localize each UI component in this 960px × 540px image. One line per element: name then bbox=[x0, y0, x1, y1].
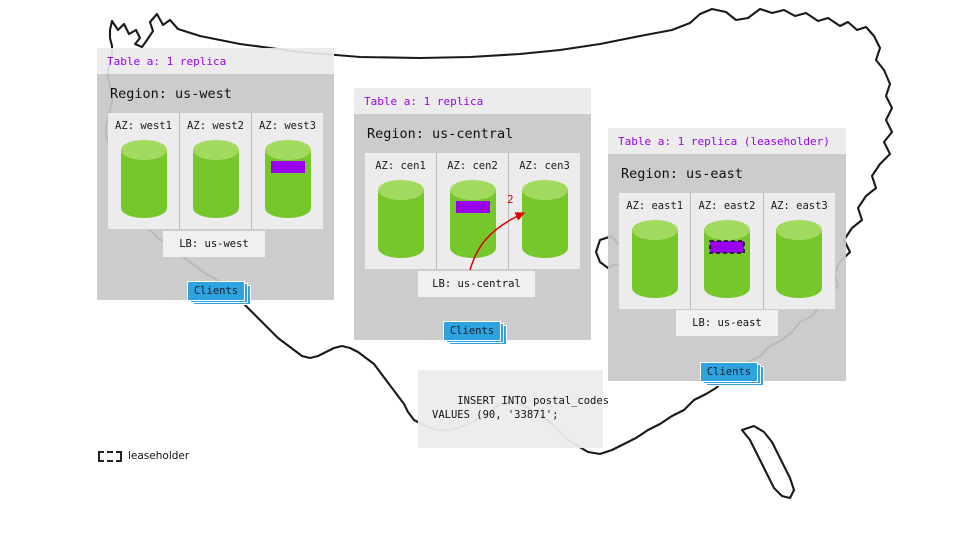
dashed-rect-icon bbox=[98, 451, 122, 462]
clients-stack-front[interactable]: Clients bbox=[443, 321, 501, 341]
database-cylinder-icon bbox=[190, 139, 242, 219]
replica-cylinder-east2 bbox=[697, 219, 756, 299]
region-panel-us-east: Table a: 1 replica (leaseholder) Region:… bbox=[608, 128, 846, 381]
az-cell-east3[interactable]: AZ: east3 bbox=[764, 193, 835, 309]
region-panel-us-central: Table a: 1 replica Region: us-central AZ… bbox=[354, 88, 591, 340]
az-cell-west1[interactable]: AZ: west1 bbox=[108, 113, 180, 229]
database-cylinder-icon bbox=[519, 179, 571, 259]
replica-cylinder-west3 bbox=[258, 139, 317, 219]
lb-label: LB: us-west bbox=[179, 238, 249, 250]
sql-text: INSERT INTO postal_codes VALUES (90, '33… bbox=[432, 395, 609, 421]
sql-statement-box: INSERT INTO postal_codes VALUES (90, '33… bbox=[418, 370, 603, 448]
load-balancer-us-west[interactable]: LB: us-west bbox=[163, 231, 265, 257]
az-row-us-west: AZ: west1 AZ: west2 bbox=[108, 113, 323, 229]
legend-label: leaseholder bbox=[128, 450, 189, 462]
replica-cylinder-east1 bbox=[625, 219, 684, 299]
database-cylinder-icon bbox=[118, 139, 170, 219]
database-cylinder-icon bbox=[773, 219, 825, 299]
clients-label: Clients bbox=[450, 325, 494, 337]
region-panel-us-west: Table a: 1 replica Region: us-west AZ: w… bbox=[97, 48, 334, 300]
load-balancer-us-east[interactable]: LB: us-east bbox=[676, 310, 778, 336]
az-label: AZ: cen3 bbox=[515, 160, 574, 172]
region-header-us-east: Table a: 1 replica (leaseholder) bbox=[608, 128, 846, 154]
az-cell-cen3[interactable]: AZ: cen3 bbox=[509, 153, 580, 269]
clients-button-us-west[interactable]: Clients bbox=[187, 281, 249, 305]
az-label: AZ: east2 bbox=[697, 200, 756, 212]
clients-stack-front[interactable]: Clients bbox=[700, 362, 758, 382]
az-cell-cen2[interactable]: AZ: cen2 bbox=[437, 153, 509, 269]
clients-stack-front[interactable]: Clients bbox=[187, 281, 245, 301]
lb-label: LB: us-east bbox=[692, 317, 762, 329]
region-body-us-east: Region: us-east AZ: east1 AZ: east2 bbox=[608, 154, 846, 381]
legend-leaseholder: leaseholder bbox=[98, 450, 189, 462]
az-row-us-east: AZ: east1 AZ: east2 bbox=[619, 193, 835, 309]
region-body-us-west: Region: us-west AZ: west1 AZ: west2 bbox=[97, 74, 334, 300]
az-label: AZ: west3 bbox=[258, 120, 317, 132]
az-label: AZ: west1 bbox=[114, 120, 173, 132]
az-label: AZ: east1 bbox=[625, 200, 684, 212]
replica-marker-leaseholder bbox=[710, 241, 744, 253]
region-title: Region: us-west bbox=[110, 86, 323, 102]
az-label: AZ: cen1 bbox=[371, 160, 430, 172]
region-header-us-west: Table a: 1 replica bbox=[97, 48, 334, 74]
az-cell-cen1[interactable]: AZ: cen1 bbox=[365, 153, 437, 269]
region-header-us-central: Table a: 1 replica bbox=[354, 88, 591, 114]
database-cylinder-icon bbox=[262, 139, 314, 219]
clients-label: Clients bbox=[707, 366, 751, 378]
region-title: Region: us-east bbox=[621, 166, 835, 182]
az-label: AZ: east3 bbox=[770, 200, 829, 212]
replica-cylinder-cen2 bbox=[443, 179, 502, 259]
az-label: AZ: west2 bbox=[186, 120, 245, 132]
az-cell-west3[interactable]: AZ: west3 bbox=[252, 113, 323, 229]
az-row-us-central: AZ: cen1 AZ: cen2 bbox=[365, 153, 580, 269]
replica-cylinder-west2 bbox=[186, 139, 245, 219]
lb-label: LB: us-central bbox=[432, 278, 521, 290]
replica-cylinder-cen3 bbox=[515, 179, 574, 259]
clients-button-us-central[interactable]: Clients bbox=[443, 321, 505, 345]
database-cylinder-icon bbox=[375, 179, 427, 259]
clients-button-us-east[interactable]: Clients bbox=[700, 362, 762, 386]
clients-label: Clients bbox=[194, 285, 238, 297]
az-label: AZ: cen2 bbox=[443, 160, 502, 172]
region-header-label: Table a: 1 replica bbox=[364, 95, 483, 108]
load-balancer-us-central[interactable]: LB: us-central bbox=[418, 271, 535, 297]
database-cylinder-icon bbox=[447, 179, 499, 259]
replica-cylinder-east3 bbox=[770, 219, 829, 299]
region-body-us-central: Region: us-central AZ: cen1 AZ: cen2 bbox=[354, 114, 591, 340]
az-cell-east1[interactable]: AZ: east1 bbox=[619, 193, 691, 309]
database-cylinder-icon bbox=[629, 219, 681, 299]
replica-marker bbox=[456, 201, 490, 213]
region-header-label: Table a: 1 replica (leaseholder) bbox=[618, 135, 830, 148]
replica-cylinder-west1 bbox=[114, 139, 173, 219]
region-header-label: Table a: 1 replica bbox=[107, 55, 226, 68]
database-cylinder-icon bbox=[701, 219, 753, 299]
replica-cylinder-cen1 bbox=[371, 179, 430, 259]
arrow-number: 2 bbox=[507, 193, 514, 206]
replica-marker bbox=[271, 161, 305, 173]
diagram-canvas: Table a: 1 replica Region: us-west AZ: w… bbox=[0, 0, 960, 540]
region-title: Region: us-central bbox=[367, 126, 580, 142]
arrow-label-2: 2 bbox=[507, 193, 514, 206]
az-cell-east2[interactable]: AZ: east2 bbox=[691, 193, 763, 309]
az-cell-west2[interactable]: AZ: west2 bbox=[180, 113, 252, 229]
florida-path bbox=[742, 426, 794, 498]
